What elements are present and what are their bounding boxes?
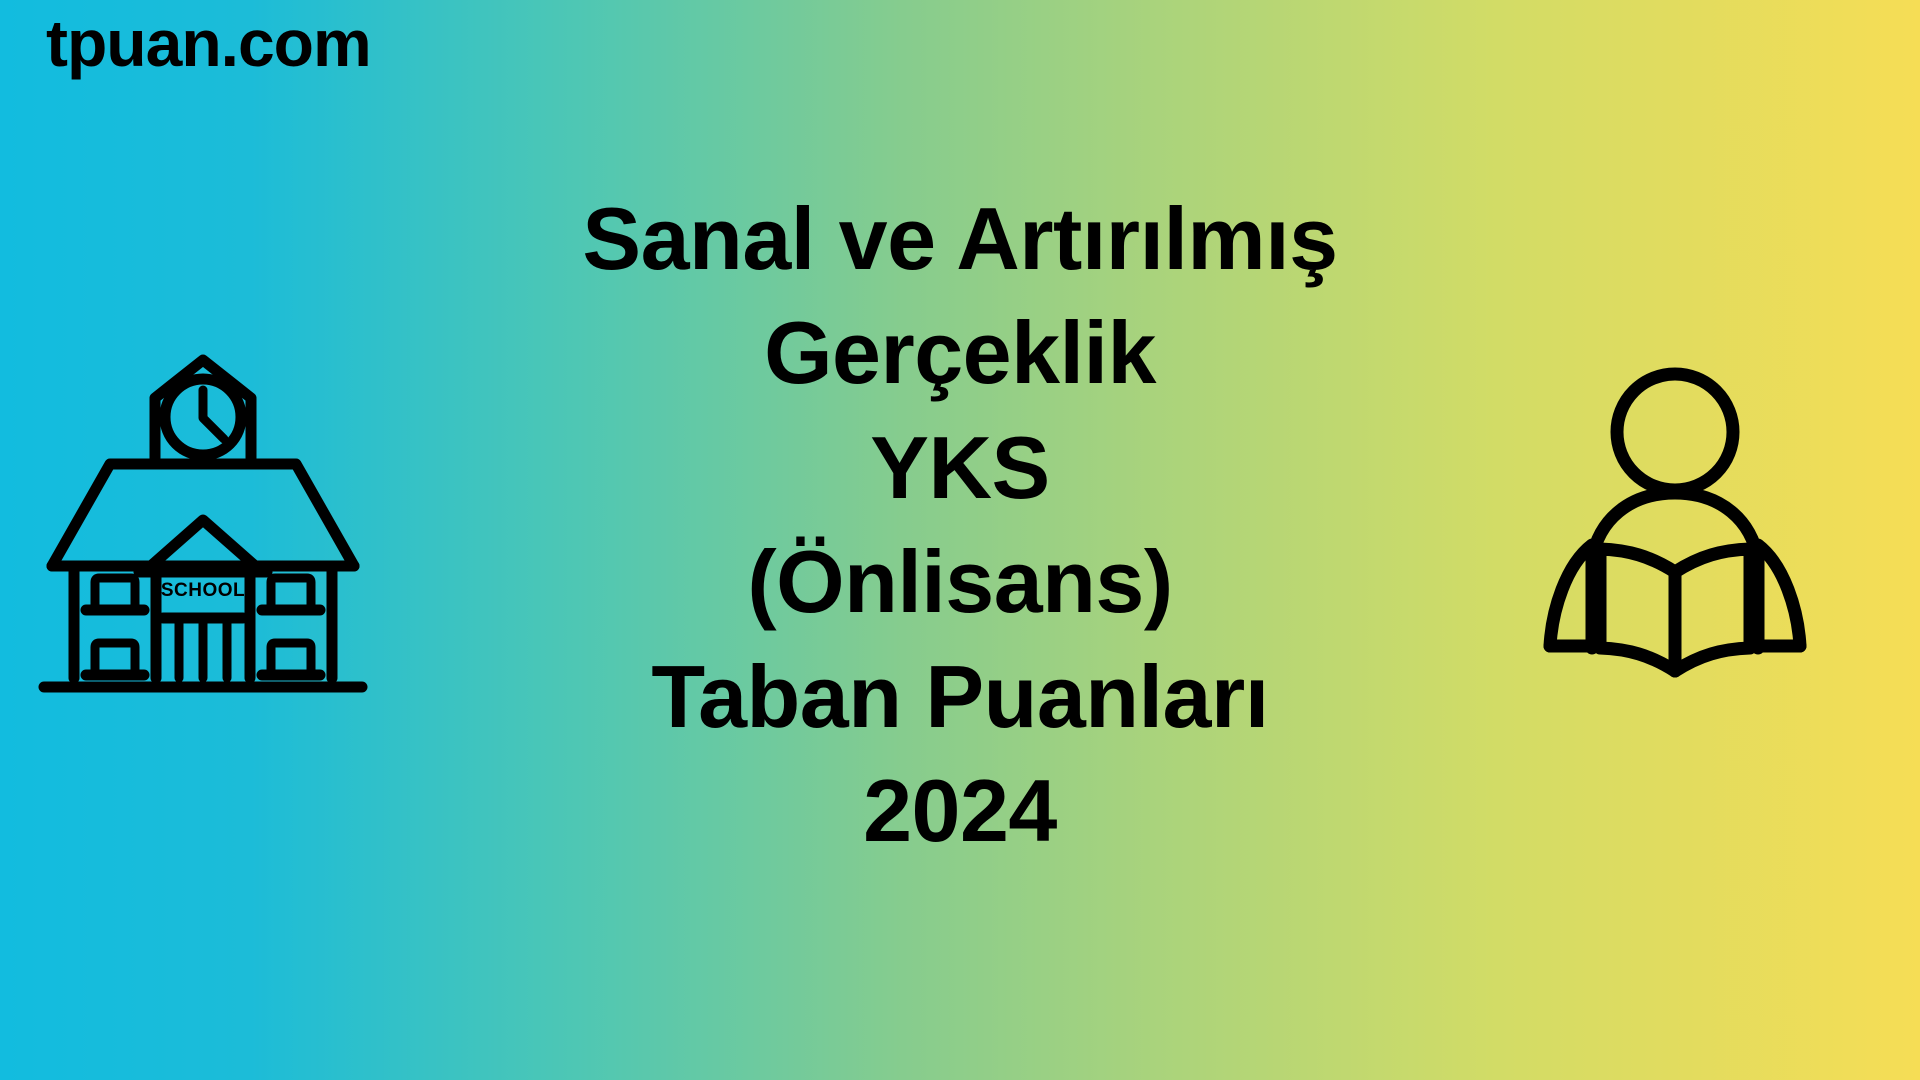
- title-line-1: Sanal ve Artırılmış: [400, 182, 1520, 296]
- title-line-5: Taban Puanları: [400, 640, 1520, 754]
- site-logo-text: tpuan.com: [46, 6, 371, 82]
- title-line-4: (Önlisans): [400, 525, 1520, 639]
- school-building-icon: SCHOOL: [38, 340, 368, 700]
- poster-canvas: tpuan.com SCHOOL: [0, 0, 1920, 1080]
- page-title: Sanal ve Artırılmış Gerçeklik YKS (Önlis…: [400, 182, 1520, 868]
- title-line-2: Gerçeklik: [400, 296, 1520, 410]
- title-line-6-year: 2024: [400, 754, 1520, 868]
- person-reading-book-icon: [1530, 360, 1820, 690]
- school-label: SCHOOL: [161, 580, 245, 601]
- title-line-3: YKS: [400, 411, 1520, 525]
